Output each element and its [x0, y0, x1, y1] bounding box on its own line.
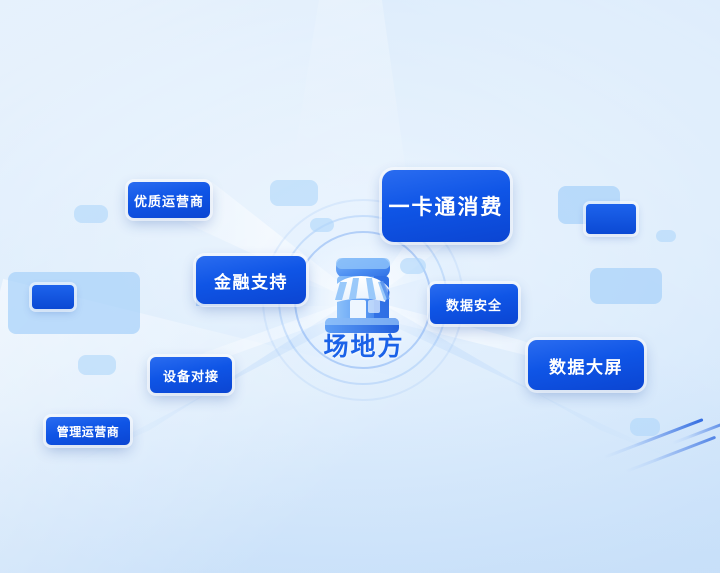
deco-rect-10 — [630, 418, 660, 436]
node-card-dapin[interactable]: 数据大屏 — [528, 340, 644, 390]
node-card-guanli[interactable]: 管理运营商 — [46, 417, 130, 445]
infographic-canvas: 场地方 优质运营商 金融支持 设备对接 管理运营商 一卡通消费 数据安全 数据大… — [0, 0, 720, 573]
deco-solid-rect-2 — [586, 204, 636, 234]
node-label-anquan: 数据安全 — [446, 295, 502, 314]
node-label-guanli: 管理运营商 — [57, 423, 120, 440]
deco-rect-1 — [8, 272, 140, 334]
deco-rect-2 — [78, 355, 116, 375]
storefront-icon — [316, 248, 408, 342]
node-card-shebei[interactable]: 设备对接 — [150, 357, 232, 393]
node-label-shebei: 设备对接 — [163, 366, 219, 385]
node-label-dapin: 数据大屏 — [549, 353, 623, 378]
node-label-yikatong: 一卡通消费 — [389, 191, 504, 221]
deco-rect-8 — [656, 230, 676, 242]
deco-rect-4 — [270, 180, 318, 206]
node-label-youzhi: 优质运营商 — [134, 191, 204, 210]
node-card-youzhi[interactable]: 优质运营商 — [128, 182, 210, 218]
deco-rect-5 — [310, 218, 334, 232]
node-card-anquan[interactable]: 数据安全 — [430, 284, 518, 324]
node-card-jinrong[interactable]: 金融支持 — [196, 256, 306, 304]
node-card-yikatong[interactable]: 一卡通消费 — [382, 170, 510, 242]
deco-rect-3 — [74, 205, 108, 223]
deco-solid-rect-1 — [32, 285, 74, 309]
hub-title: 场地方 — [306, 335, 422, 360]
deco-rect-9 — [590, 268, 662, 304]
node-label-jinrong: 金融支持 — [214, 268, 288, 293]
